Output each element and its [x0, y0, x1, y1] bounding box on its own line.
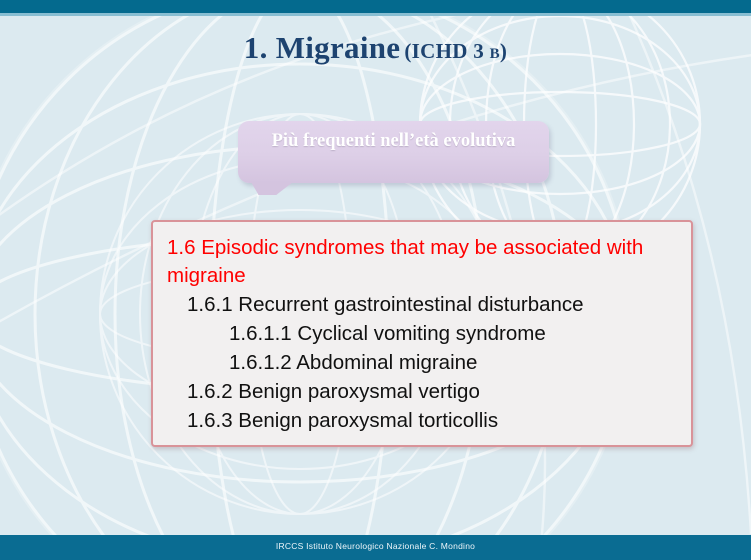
content-line: 1.6.3 Benign paroxysmal torticollis	[187, 406, 683, 435]
content-line: 1.6.1.2 Abdominal migraine	[229, 348, 683, 377]
content-box: 1.6 Episodic syndromes that may be assoc…	[151, 220, 693, 447]
slide-title-sub: (ICHD 3 β)	[404, 39, 507, 63]
callout-box: Più frequenti nell’età evolutiva	[238, 121, 549, 183]
callout-text: Più frequenti nell’età evolutiva	[238, 130, 549, 153]
top-accent-bar	[0, 0, 751, 13]
content-line-list: 1.6 Episodic syndromes that may be assoc…	[167, 234, 683, 435]
slide-canvas: 1. Migraine (ICHD 3 β) Più frequenti nel…	[0, 0, 751, 560]
slide-title-main: 1. Migraine	[244, 30, 401, 65]
footer-text: IRCCS Istituto Neurologico Nazionale C. …	[0, 541, 751, 551]
content-line: 1.6.2 Benign paroxysmal vertigo	[187, 377, 683, 406]
top-accent-underline	[0, 13, 751, 16]
slide-title: 1. Migraine (ICHD 3 β)	[0, 30, 751, 66]
content-line: 1.6.1 Recurrent gastrointestinal disturb…	[187, 290, 683, 319]
content-line: 1.6 Episodic syndromes that may be assoc…	[167, 234, 683, 290]
content-line: 1.6.1.1 Cyclical vomiting syndrome	[229, 319, 683, 348]
